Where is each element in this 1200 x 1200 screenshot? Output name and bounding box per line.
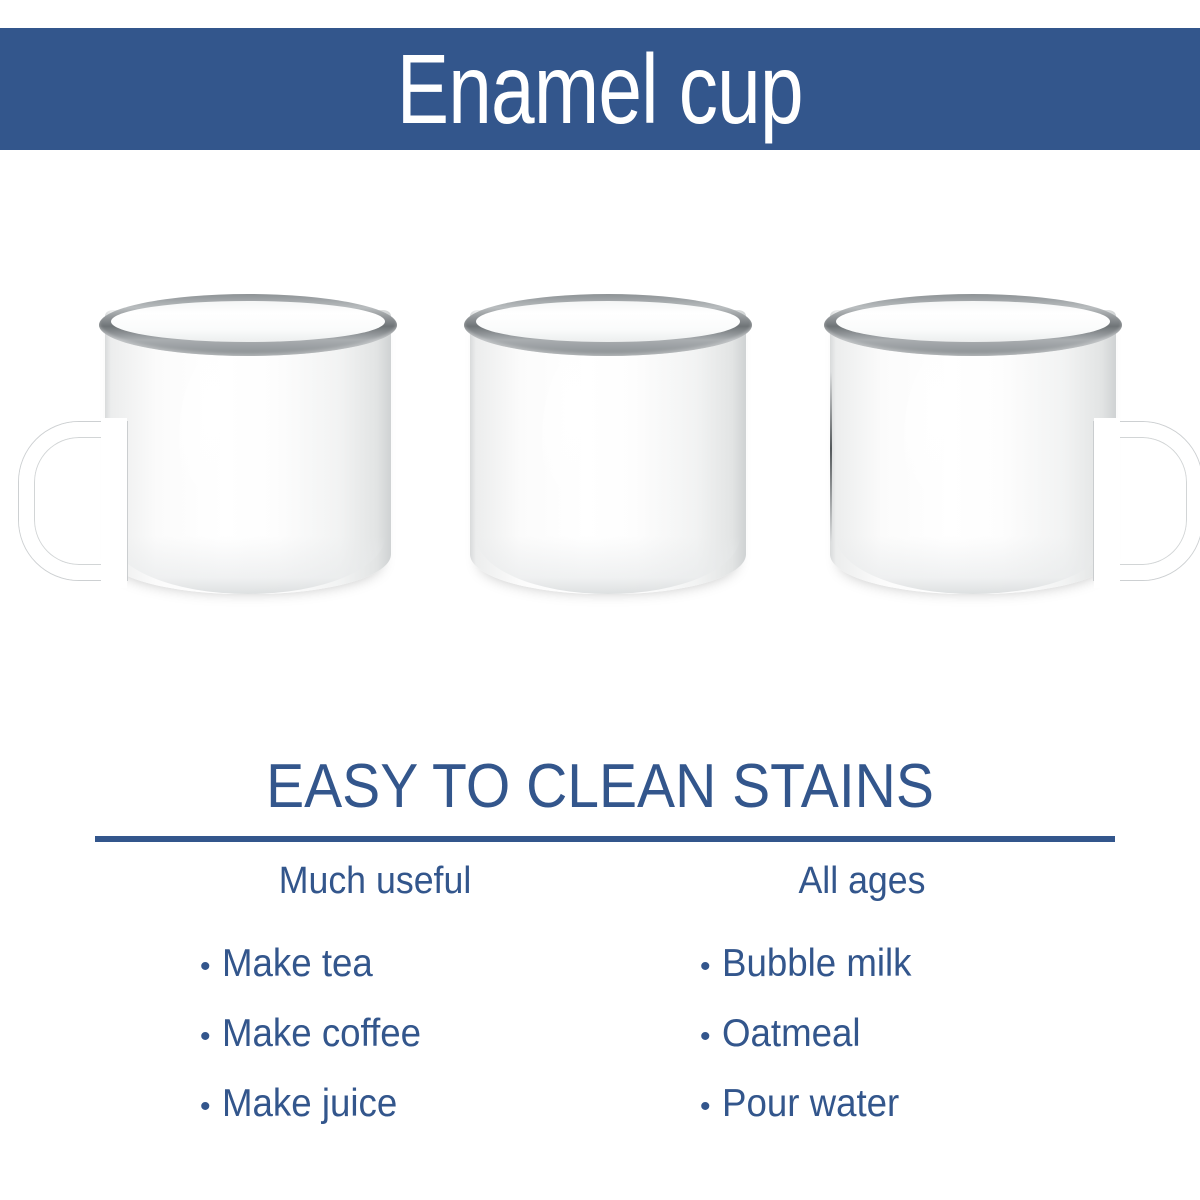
cup-rim (824, 294, 1122, 356)
list-item: • Make tea (200, 944, 630, 983)
bullet-icon: • (700, 952, 722, 982)
list-item-label: Make tea (222, 944, 373, 983)
bullet-icon: • (200, 952, 222, 982)
cup-handle-joint (101, 418, 127, 588)
cup-interior (836, 301, 1110, 342)
feature-columns: Much useful • Make tea • Make coffee • M… (0, 862, 1200, 1154)
cup-rim (464, 294, 752, 356)
list-item-label: Oatmeal (722, 1014, 861, 1053)
product-image-cup-right (830, 294, 1116, 610)
list-item: • Pour water (700, 1084, 1130, 1123)
page-title: Enamel cup (397, 40, 803, 138)
cup-rim (99, 294, 397, 356)
column-title: All ages (712, 862, 1013, 900)
cup-edge-shadow (830, 372, 832, 542)
column-title: Much useful (140, 862, 610, 900)
cup-interior (111, 301, 385, 342)
list-item: • Make coffee (200, 1014, 630, 1053)
bullet-icon: • (200, 1092, 222, 1122)
list-item-label: Pour water (722, 1084, 899, 1123)
list-item: • Bubble milk (700, 944, 1130, 983)
bullet-icon: • (700, 1092, 722, 1122)
bullet-icon: • (700, 1022, 722, 1052)
list-item-label: Make coffee (222, 1014, 421, 1053)
list-item: • Make juice (200, 1084, 630, 1123)
header-banner: Enamel cup (0, 28, 1200, 150)
cup-handle-joint (1094, 418, 1120, 588)
feature-column-all-ages: All ages • Bubble milk • Oatmeal • Pour … (630, 862, 1130, 1154)
list-item-label: Bubble milk (722, 944, 911, 983)
feature-column-much-useful: Much useful • Make tea • Make coffee • M… (130, 862, 630, 1154)
section-divider (95, 836, 1115, 842)
product-image-cup-left (105, 294, 391, 610)
feature-list-all-ages: • Bubble milk • Oatmeal • Pour water (630, 944, 1130, 1123)
section-heading: EASY TO CLEAN STAINS (48, 756, 1152, 818)
feature-list-much-useful: • Make tea • Make coffee • Make juice (130, 944, 630, 1123)
list-item: • Oatmeal (700, 1014, 1130, 1053)
list-item-label: Make juice (222, 1084, 397, 1123)
cup-interior (476, 301, 740, 342)
cup-highlight (179, 350, 265, 526)
bullet-icon: • (200, 1022, 222, 1052)
product-image-group (0, 250, 1200, 670)
product-image-cup-center (470, 294, 746, 610)
cup-highlight (904, 350, 990, 526)
cup-highlight (542, 350, 625, 526)
